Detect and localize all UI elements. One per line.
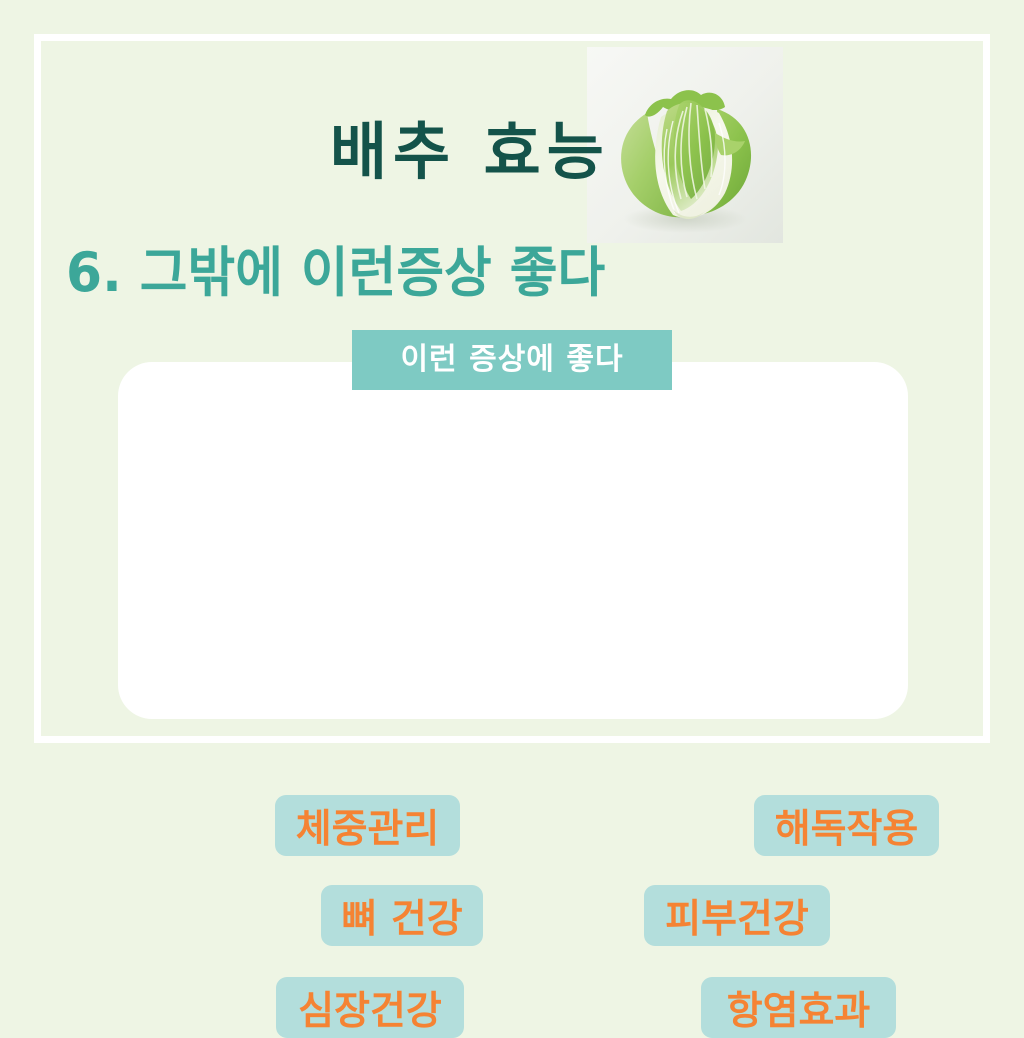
pill-bone: 뼈 건강	[321, 885, 483, 946]
pill-heart: 심장건강	[276, 977, 464, 1038]
pill-heart-label: 심장건강	[298, 980, 442, 1036]
slide-canvas: 배추 효능 6. 그밖에 이런증상 좋다 체중관리 해독작용 뼈 건강 피부건강…	[0, 0, 1024, 777]
content-card: 체중관리 해독작용 뼈 건강 피부건강 심장건강 항염효과	[118, 362, 908, 719]
section-heading: 6. 그밖에 이런증상 좋다	[66, 240, 738, 306]
pill-weight: 체중관리	[275, 795, 460, 856]
pill-detox-label: 해독작용	[775, 798, 919, 854]
pill-detox: 해독작용	[754, 795, 939, 856]
pill-antiinflammation-label: 항염효과	[727, 980, 871, 1036]
pill-antiinflammation: 항염효과	[701, 977, 896, 1038]
symptoms-banner: 이런 증상에 좋다	[352, 330, 672, 390]
pill-weight-label: 체중관리	[296, 798, 440, 854]
pill-bone-label: 뼈 건강	[341, 888, 462, 944]
pill-skin-label: 피부건강	[665, 888, 809, 944]
pill-skin: 피부건강	[644, 885, 830, 946]
page-title: 배추 효능	[330, 107, 670, 197]
